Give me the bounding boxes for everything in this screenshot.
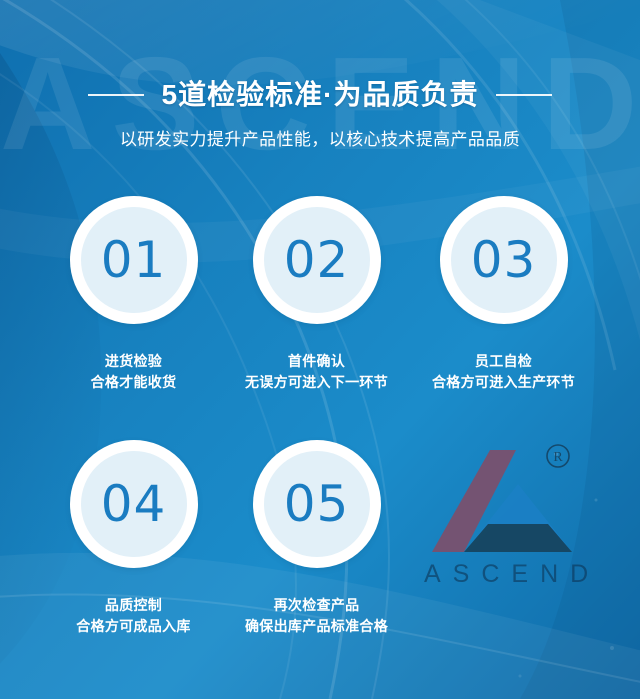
svg-text:R: R xyxy=(553,450,563,465)
step-label-03: 员工自检 合格方可进入生产环节 xyxy=(411,351,596,393)
logo-wordmark: ASCEND xyxy=(424,562,624,587)
logo-base xyxy=(464,524,572,552)
logo-stroke xyxy=(432,450,516,552)
title-right-rule xyxy=(496,94,552,96)
step-label-line2-02: 无误方可进入下一环节 xyxy=(224,372,409,393)
step-badge-inner-03: 03 xyxy=(451,207,557,313)
step-item-02[interactable]: 02 首件确认 无误方可进入下一环节 xyxy=(224,190,409,393)
step-label-line2-03: 合格方可进入生产环节 xyxy=(411,372,596,393)
quality-standards-poster: ASCEND 5道检验标准·为品质负责 以研发实力提升产品性能，以核心技术提高产… xyxy=(0,0,640,699)
page-title: 5道检验标准·为品质负责 xyxy=(162,75,479,115)
step-label-04: 品质控制 合格方可成品入库 xyxy=(41,595,226,637)
step-label-line1-03: 员工自检 xyxy=(475,353,532,369)
registered-trademark-icon: R xyxy=(547,445,569,467)
step-label-line2-05: 确保出库产品标准合格 xyxy=(224,616,409,637)
step-label-line2-04: 合格方可成品入库 xyxy=(41,616,226,637)
step-number-05: 05 xyxy=(284,479,350,529)
step-label-line1-02: 首件确认 xyxy=(288,353,345,369)
title-left-rule xyxy=(88,94,144,96)
step-badge-03: 03 xyxy=(440,196,568,324)
step-badge-01: 01 xyxy=(70,196,198,324)
step-item-05[interactable]: 05 再次检查产品 确保出库产品标准合格 xyxy=(224,434,409,637)
step-label-05: 再次检查产品 确保出库产品标准合格 xyxy=(224,595,409,637)
step-item-01[interactable]: 01 进货检验 合格才能收货 xyxy=(41,190,226,393)
logo-triangle xyxy=(464,484,572,552)
step-label-line1-05: 再次检查产品 xyxy=(274,597,360,613)
step-number-04: 04 xyxy=(101,479,167,529)
step-badge-inner-02: 02 xyxy=(264,207,370,313)
step-number-02: 02 xyxy=(284,235,350,285)
step-number-03: 03 xyxy=(471,235,537,285)
title-row: 5道检验标准·为品质负责 xyxy=(0,75,640,115)
step-label-01: 进货检验 合格才能收货 xyxy=(41,351,226,393)
step-badge-inner-04: 04 xyxy=(81,451,187,557)
ascend-logo: R ASCEND xyxy=(424,440,640,592)
page-subtitle: 以研发实力提升产品性能，以核心技术提高产品品质 xyxy=(0,127,640,153)
step-item-04[interactable]: 04 品质控制 合格方可成品入库 xyxy=(41,434,226,637)
step-label-line2-01: 合格才能收货 xyxy=(41,372,226,393)
step-label-line1-04: 品质控制 xyxy=(105,597,162,613)
step-label-line1-01: 进货检验 xyxy=(105,353,162,369)
step-badge-04: 04 xyxy=(70,440,198,568)
step-number-01: 01 xyxy=(101,235,167,285)
step-badge-02: 02 xyxy=(253,196,381,324)
step-label-02: 首件确认 无误方可进入下一环节 xyxy=(224,351,409,393)
step-badge-05: 05 xyxy=(253,440,381,568)
step-item-03[interactable]: 03 员工自检 合格方可进入生产环节 xyxy=(411,190,596,393)
step-badge-inner-05: 05 xyxy=(264,451,370,557)
step-badge-inner-01: 01 xyxy=(81,207,187,313)
